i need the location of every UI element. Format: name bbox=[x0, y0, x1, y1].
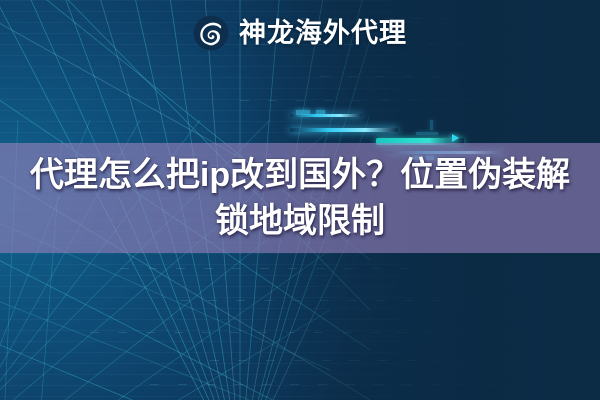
promo-banner: 神龙海外代理 代理怎么把ip改到国外？位置伪装解锁地域限制 bbox=[0, 0, 600, 400]
chip-block bbox=[416, 132, 438, 135]
headline-text: 代理怎么把ip改到国外？位置伪装解锁地域限制 bbox=[0, 152, 600, 244]
headline-line-2: 锁地域限制 bbox=[215, 202, 385, 240]
play-triangle-icon bbox=[452, 134, 459, 142]
chip-block bbox=[430, 120, 433, 130]
brand-name: 神龙海外代理 bbox=[239, 20, 407, 47]
glow-bar bbox=[290, 128, 398, 132]
chip-block bbox=[296, 110, 310, 115]
chip-block bbox=[316, 110, 325, 115]
headline-line-1: 代理怎么把ip改到国外？位置伪装解 bbox=[30, 156, 570, 194]
brand-logo: 神龙海外代理 bbox=[0, 10, 600, 56]
spiral-dragon-swirl-icon bbox=[193, 15, 229, 51]
